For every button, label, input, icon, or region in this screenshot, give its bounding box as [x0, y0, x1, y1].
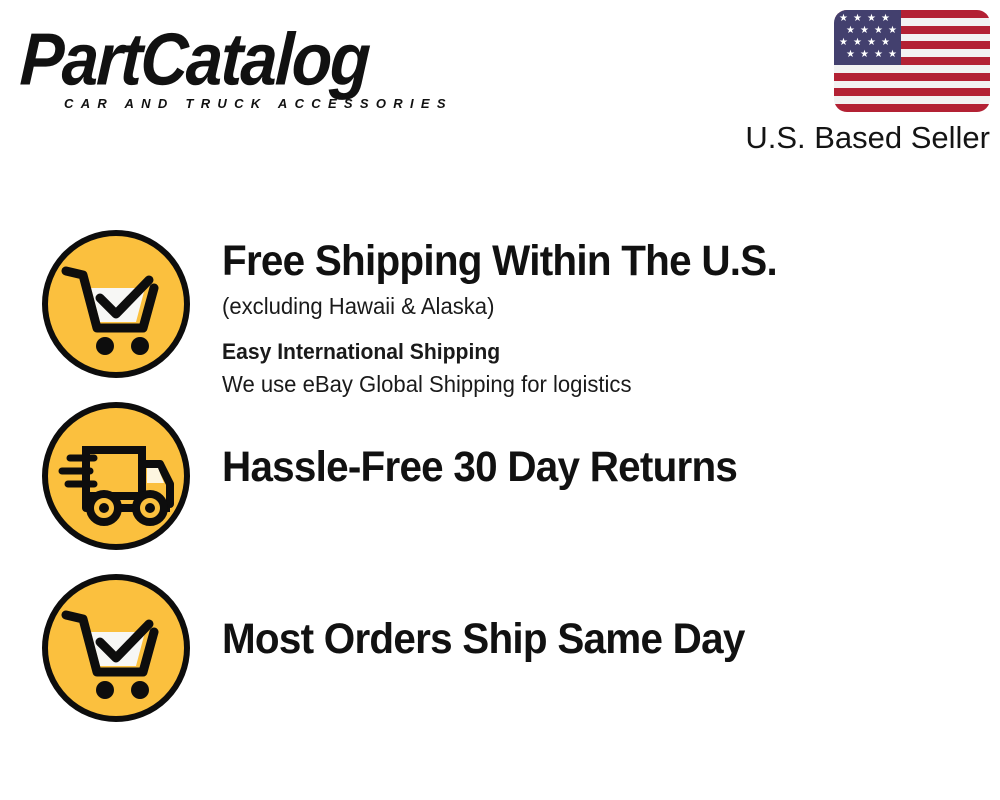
feature-row: Free Shipping Within The U.S. (excluding…	[0, 218, 1000, 390]
feature-list: Free Shipping Within The U.S. (excluding…	[0, 218, 1000, 734]
flag-star: ★	[853, 38, 862, 48]
flag-canton: ★ ★ ★ ★ ★ ★ ★ ★ ★ ★ ★ ★ ★ ★ ★ ★	[834, 10, 901, 65]
brand-wordmark: PartCatalog	[19, 22, 492, 96]
flag-star: ★	[888, 26, 897, 36]
delivery-truck-icon	[42, 402, 190, 550]
feature-sub-heading: Easy International Shipping	[222, 336, 952, 368]
us-based-seller-badge: ★ ★ ★ ★ ★ ★ ★ ★ ★ ★ ★ ★ ★ ★ ★ ★ U.S. Bas…	[720, 10, 990, 156]
us-based-seller-label: U.S. Based Seller	[720, 120, 990, 156]
flag-star: ★	[874, 50, 883, 60]
feature-note: (excluding Hawaii & Alaska)	[222, 290, 952, 322]
flag-star: ★	[853, 14, 862, 24]
shopping-cart-check-icon	[42, 574, 190, 722]
flag-stripe	[834, 81, 990, 89]
feature-text-block: Hassle-Free 30 Day Returns	[222, 442, 982, 492]
flag-stripe	[834, 65, 990, 73]
feature-title: Most Orders Ship Same Day	[222, 614, 936, 664]
flag-star: ★	[874, 26, 883, 36]
feature-title: Hassle-Free 30 Day Returns	[222, 442, 936, 492]
brand-logo[interactable]: PartCatalog CAR AND TRUCK ACCESSORIES	[22, 22, 492, 111]
page-header: PartCatalog CAR AND TRUCK ACCESSORIES ★ …	[0, 0, 1000, 170]
flag-star: ★	[881, 14, 890, 24]
feature-text-block: Free Shipping Within The U.S. (excluding…	[222, 236, 982, 400]
flag-star: ★	[867, 14, 876, 24]
flag-star: ★	[846, 50, 855, 60]
feature-row: Hassle-Free 30 Day Returns	[0, 390, 1000, 562]
flag-stripe	[834, 96, 990, 104]
flag-stripe	[834, 73, 990, 81]
flag-star: ★	[839, 14, 848, 24]
flag-star: ★	[860, 50, 869, 60]
flag-star: ★	[881, 38, 890, 48]
flag-star: ★	[839, 38, 848, 48]
feature-title: Free Shipping Within The U.S.	[222, 236, 936, 286]
flag-star: ★	[888, 50, 897, 60]
flag-star: ★	[860, 26, 869, 36]
flag-stripe	[834, 88, 990, 96]
feature-row: Most Orders Ship Same Day	[0, 562, 1000, 734]
flag-stripe	[834, 104, 990, 112]
flag-star: ★	[846, 26, 855, 36]
us-flag-icon: ★ ★ ★ ★ ★ ★ ★ ★ ★ ★ ★ ★ ★ ★ ★ ★	[834, 10, 990, 112]
feature-text-block: Most Orders Ship Same Day	[222, 614, 982, 664]
shopping-cart-check-icon	[42, 230, 190, 378]
flag-star: ★	[867, 38, 876, 48]
